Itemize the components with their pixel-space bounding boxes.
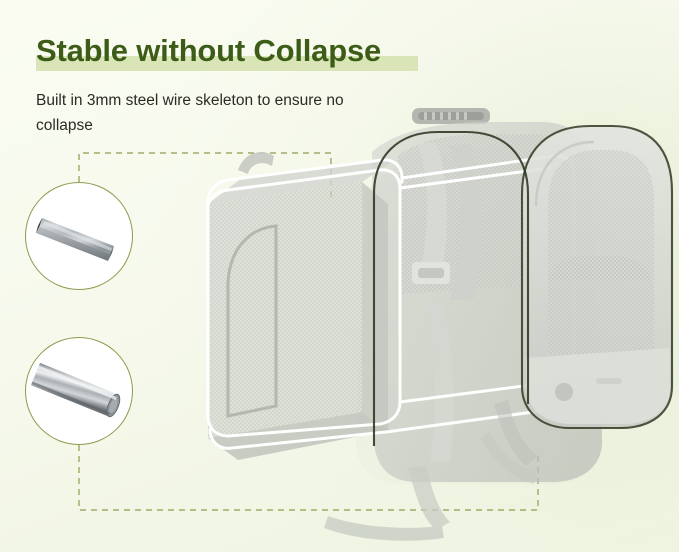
page-title-wrap: Stable without Collapse [36,34,381,68]
illustration-slide: Stable without Collapse Built in 3mm ste… [0,0,679,552]
expansion-cube [208,152,394,460]
top-handle [412,108,490,124]
round-rod-body-group [31,363,123,419]
product-illustration [150,86,679,552]
front-door-panel [522,126,672,428]
page-title: Stable without Collapse [36,34,381,68]
pet-carrier-backpack-graphic [150,86,679,552]
callout-flat-bar [25,182,133,290]
flat-steel-bar-icon [26,183,133,290]
callout-round-rod [25,337,133,445]
round-steel-rod-icon [26,338,133,445]
grommet-hole [555,383,573,401]
chest-strap-buckle [412,262,450,284]
